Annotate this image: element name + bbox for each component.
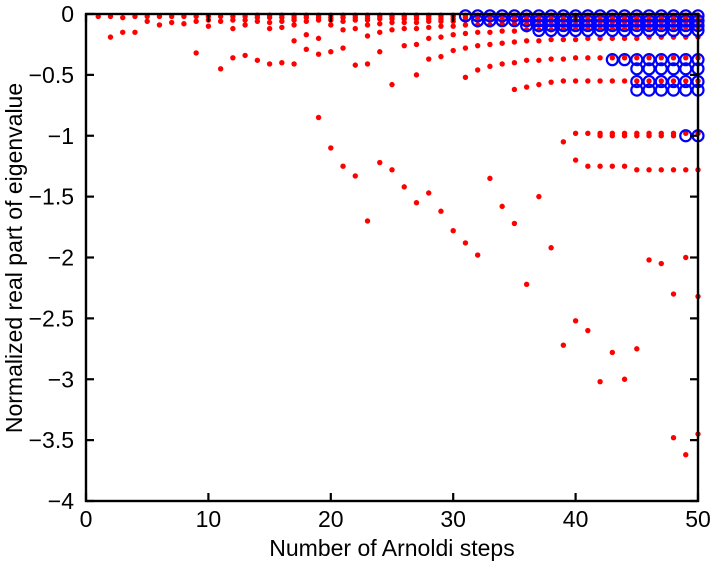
data-point-filled xyxy=(328,145,333,150)
data-point-filled xyxy=(120,30,125,35)
data-point-filled xyxy=(316,17,321,22)
data-point-filled xyxy=(524,38,529,43)
data-point-filled xyxy=(255,58,260,63)
data-point-filled xyxy=(610,55,615,60)
data-point-filled xyxy=(683,78,688,83)
y-tick-label: −2.5 xyxy=(29,305,74,331)
data-point-filled xyxy=(267,20,272,25)
data-point-filled xyxy=(340,19,345,24)
data-point-filled xyxy=(683,167,688,172)
figure-container: 01020304050 0−0.5−1−1.5−2−2.5−3−3.5−4 Nu… xyxy=(0,0,714,561)
data-point-filled xyxy=(622,377,627,382)
data-point-filled xyxy=(659,133,664,138)
data-point-filled xyxy=(646,78,651,83)
data-point-filled xyxy=(634,167,639,172)
data-point-filled xyxy=(573,318,578,323)
data-point-filled xyxy=(548,79,553,84)
data-point-filled xyxy=(279,25,284,30)
data-point-filled xyxy=(536,194,541,199)
data-point-filled xyxy=(597,379,602,384)
data-point-filled xyxy=(573,78,578,83)
data-point-filled xyxy=(206,23,211,28)
data-point-filled xyxy=(218,66,223,71)
data-point-filled xyxy=(157,22,162,27)
data-point-filled xyxy=(659,167,664,172)
data-point-filled xyxy=(536,82,541,87)
data-point-filled xyxy=(573,37,578,42)
data-point-filled xyxy=(402,20,407,25)
data-point-filled xyxy=(438,19,443,24)
data-point-filled xyxy=(426,19,431,24)
data-point-filled xyxy=(573,131,578,136)
data-point-filled xyxy=(646,133,651,138)
data-point-filled xyxy=(328,49,333,54)
data-point-filled xyxy=(316,51,321,56)
data-point-filled xyxy=(242,17,247,22)
data-point-filled xyxy=(499,61,504,66)
data-point-filled xyxy=(389,82,394,87)
data-point-filled xyxy=(414,20,419,25)
data-point-filled xyxy=(291,38,296,43)
data-point-filled xyxy=(536,58,541,63)
data-point-filled xyxy=(561,342,566,347)
data-point-filled xyxy=(340,27,345,32)
data-point-filled xyxy=(108,34,113,39)
data-point-filled xyxy=(353,17,358,22)
data-point-filled xyxy=(230,17,235,22)
data-point-filled xyxy=(671,78,676,83)
data-point-filled xyxy=(353,26,358,31)
data-point-filled xyxy=(304,32,309,37)
series-converged-row-minus-one xyxy=(597,133,676,138)
y-tick-label: −1.5 xyxy=(29,184,74,210)
x-tick-labels: 01020304050 xyxy=(80,506,711,532)
data-point-filled xyxy=(561,37,566,42)
data-point-filled xyxy=(132,30,137,35)
data-point-filled xyxy=(426,56,431,61)
data-point-filled xyxy=(524,58,529,63)
data-point-filled xyxy=(304,19,309,24)
data-point-filled xyxy=(683,255,688,260)
data-point-filled xyxy=(451,228,456,233)
y-tick-label: −1 xyxy=(48,123,74,149)
data-point-filled xyxy=(610,133,615,138)
data-point-filled xyxy=(230,55,235,60)
data-point-filled xyxy=(671,291,676,296)
scatter-plot: 01020304050 0−0.5−1−1.5−2−2.5−3−3.5−4 Nu… xyxy=(0,0,714,561)
data-point-filled xyxy=(634,55,639,60)
data-point-filled xyxy=(499,28,504,33)
x-tick-label: 30 xyxy=(440,506,466,532)
data-point-filled xyxy=(389,27,394,32)
data-point-filled xyxy=(377,16,382,21)
data-point-filled xyxy=(169,20,174,25)
data-point-filled xyxy=(365,33,370,38)
data-point-filled xyxy=(255,19,260,24)
data-point-filled xyxy=(328,22,333,27)
y-tick-label: −2 xyxy=(48,245,74,271)
data-point-filled xyxy=(634,133,639,138)
data-point-filled xyxy=(438,209,443,214)
data-point-filled xyxy=(597,163,602,168)
data-point-filled xyxy=(279,19,284,24)
data-point-filled xyxy=(267,15,272,20)
data-point-filled xyxy=(120,15,125,20)
data-points-layer xyxy=(96,10,704,457)
data-point-filled xyxy=(475,30,480,35)
data-point-filled xyxy=(365,22,370,27)
data-point-filled xyxy=(402,43,407,48)
data-point-filled xyxy=(316,115,321,120)
data-point-filled xyxy=(230,26,235,31)
data-point-filled xyxy=(291,17,296,22)
data-point-filled xyxy=(487,42,492,47)
data-point-filled xyxy=(463,240,468,245)
data-point-filled xyxy=(414,26,419,31)
data-point-filled xyxy=(585,78,590,83)
data-point-filled xyxy=(659,261,664,266)
data-point-filled xyxy=(512,39,517,44)
data-point-filled xyxy=(622,55,627,60)
y-axis-title: Normalized real part of eigenvalue xyxy=(1,83,27,433)
data-point-filled xyxy=(487,30,492,35)
data-point-filled xyxy=(499,204,504,209)
data-point-filled xyxy=(451,32,456,37)
data-point-filled xyxy=(561,56,566,61)
data-point-filled xyxy=(659,78,664,83)
data-point-filled xyxy=(610,350,615,355)
x-axis-title: Number of Arnoldi steps xyxy=(269,535,514,561)
x-tick-label: 10 xyxy=(196,506,222,532)
data-point-filled xyxy=(597,133,602,138)
x-tick-label: 20 xyxy=(318,506,344,532)
data-point-filled xyxy=(340,45,345,50)
data-point-filled xyxy=(671,435,676,440)
data-point-filled xyxy=(193,19,198,24)
y-tick-label: −3 xyxy=(48,366,74,392)
data-point-filled xyxy=(548,37,553,42)
data-point-filled xyxy=(402,26,407,31)
data-point-filled xyxy=(414,72,419,77)
y-tick-labels: 0−0.5−1−1.5−2−2.5−3−3.5−4 xyxy=(29,1,75,514)
data-point-filled xyxy=(671,55,676,60)
data-point-filled xyxy=(597,55,602,60)
data-point-filled xyxy=(316,36,321,41)
data-point-filled xyxy=(610,163,615,168)
data-point-filled xyxy=(585,328,590,333)
data-point-filled xyxy=(267,61,272,66)
data-point-filled xyxy=(353,62,358,67)
data-point-filled xyxy=(561,78,566,83)
data-point-filled xyxy=(291,22,296,27)
data-point-filled xyxy=(353,173,358,178)
data-point-filled xyxy=(463,75,468,80)
data-point-filled xyxy=(548,245,553,250)
data-point-filled xyxy=(377,21,382,26)
data-point-filled xyxy=(512,87,517,92)
data-point-filled xyxy=(610,78,615,83)
data-point-filled xyxy=(193,50,198,55)
data-point-filled xyxy=(646,257,651,262)
y-tick-label: 0 xyxy=(61,1,74,27)
data-point-filled xyxy=(512,221,517,226)
data-point-filled xyxy=(377,160,382,165)
data-point-filled xyxy=(671,167,676,172)
data-point-filled xyxy=(585,163,590,168)
x-tick-label: 0 xyxy=(80,506,93,532)
data-point-filled xyxy=(475,43,480,48)
data-point-filled xyxy=(291,61,296,66)
data-point-filled xyxy=(487,64,492,69)
data-point-filled xyxy=(634,78,639,83)
data-point-filled xyxy=(377,49,382,54)
data-point-filled xyxy=(181,21,186,26)
data-point-filled xyxy=(365,218,370,223)
data-point-filled xyxy=(426,25,431,30)
data-point-filled xyxy=(426,36,431,41)
data-point-filled xyxy=(463,45,468,50)
data-point-filled xyxy=(487,176,492,181)
data-point-filled xyxy=(438,34,443,39)
data-point-filled xyxy=(451,23,456,28)
data-point-filled xyxy=(340,163,345,168)
data-point-filled xyxy=(646,167,651,172)
data-point-filled xyxy=(438,54,443,59)
data-point-filled xyxy=(389,167,394,172)
data-point-filled xyxy=(683,55,688,60)
data-point-filled xyxy=(524,84,529,89)
data-point-filled xyxy=(242,22,247,27)
data-point-filled xyxy=(365,61,370,66)
data-point-filled xyxy=(622,78,627,83)
data-point-filled xyxy=(536,38,541,43)
x-tick-label: 50 xyxy=(685,506,711,532)
series-unconverged-eigenvalues xyxy=(96,13,701,458)
data-point-filled xyxy=(585,131,590,136)
y-tick-label: −4 xyxy=(48,488,74,514)
data-point-filled xyxy=(463,22,468,27)
data-point-filled xyxy=(499,41,504,46)
data-point-filled xyxy=(304,47,309,52)
data-point-filled xyxy=(414,200,419,205)
data-point-filled xyxy=(573,157,578,162)
data-point-filled xyxy=(573,55,578,60)
data-point-filled xyxy=(512,60,517,65)
data-point-filled xyxy=(267,26,272,31)
data-point-filled xyxy=(659,55,664,60)
data-point-filled xyxy=(548,56,553,61)
data-point-filled xyxy=(279,60,284,65)
data-point-filled xyxy=(622,163,627,168)
data-point-filled xyxy=(597,78,602,83)
data-point-filled xyxy=(451,48,456,53)
data-point-filled xyxy=(683,452,688,457)
data-point-filled xyxy=(365,17,370,22)
data-point-filled xyxy=(512,28,517,33)
series-converged-eigenvalues xyxy=(460,10,704,141)
data-point-filled xyxy=(475,252,480,257)
data-point-filled xyxy=(561,139,566,144)
x-tick-label: 40 xyxy=(563,506,589,532)
data-point-filled xyxy=(585,55,590,60)
data-point-filled xyxy=(475,67,480,72)
data-point-filled xyxy=(463,31,468,36)
data-point-filled xyxy=(622,133,627,138)
data-point-filled xyxy=(389,20,394,25)
data-point-filled xyxy=(646,55,651,60)
data-point-filled xyxy=(242,53,247,58)
y-tick-label: −0.5 xyxy=(29,62,74,88)
data-point-filled xyxy=(524,282,529,287)
data-point-filled xyxy=(377,30,382,35)
y-tick-label: −3.5 xyxy=(29,427,74,453)
data-point-filled xyxy=(145,19,150,24)
data-point-filled xyxy=(438,23,443,28)
data-point-filled xyxy=(634,346,639,351)
data-point-filled xyxy=(218,19,223,24)
data-point-filled xyxy=(414,42,419,47)
data-point-filled xyxy=(402,184,407,189)
data-point-filled xyxy=(426,190,431,195)
data-point-filled xyxy=(671,133,676,138)
